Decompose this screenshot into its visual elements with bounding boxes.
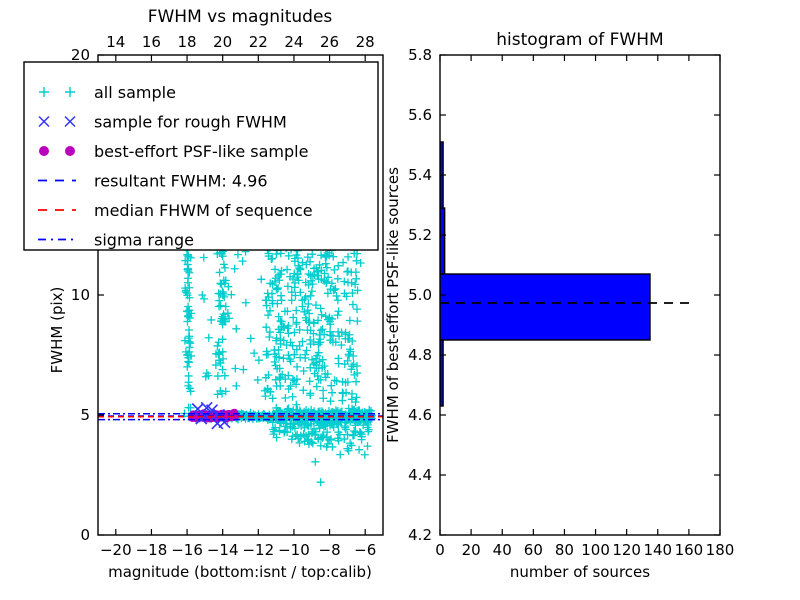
scatter-plus-marker	[221, 264, 229, 272]
scatter-plus-marker	[239, 366, 247, 374]
left-scatter-data	[98, 211, 383, 486]
scatter-plus-marker	[327, 397, 335, 405]
left-xtick-label-top: 18	[178, 33, 197, 51]
left-xtick-label-bottom: −16	[171, 541, 203, 559]
left-xtick-label-bottom: −14	[207, 541, 239, 559]
legend: all samplesample for rough FWHMbest-effo…	[24, 62, 378, 250]
scatter-plus-marker	[273, 285, 281, 293]
right-xtick-label: 180	[706, 541, 735, 559]
scatter-plus-marker	[350, 427, 358, 435]
scatter-plus-marker	[216, 268, 224, 276]
scatter-plus-marker	[183, 363, 191, 371]
scatter-plus-marker	[353, 305, 361, 313]
scatter-plus-marker	[257, 275, 265, 283]
scatter-plus-marker	[283, 266, 291, 274]
histogram-bars	[440, 142, 690, 406]
left-xtick-label-top: 20	[213, 33, 232, 51]
scatter-plus-marker	[364, 442, 372, 450]
scatter-plus-marker	[311, 458, 319, 466]
scatter-plus-marker	[254, 376, 262, 384]
scatter-plus-marker	[232, 382, 240, 390]
scatter-plus-marker	[292, 306, 300, 314]
scatter-plus-marker	[232, 325, 240, 333]
left-xtick-label-bottom: −12	[242, 541, 274, 559]
legend-item-label: best-effort PSF-like sample	[94, 142, 308, 161]
scatter-plus-marker	[247, 334, 255, 342]
scatter-plus-marker	[272, 285, 280, 293]
scatter-plus-marker	[352, 378, 360, 386]
scatter-plus-marker	[331, 376, 339, 384]
scatter-plus-marker	[239, 257, 247, 265]
legend-item-label: sigma range	[94, 231, 194, 250]
right-ytick-label: 5.4	[408, 166, 432, 184]
scatter-plus-marker	[299, 386, 307, 394]
scatter-plus-marker	[295, 439, 303, 447]
scatter-plus-marker	[185, 378, 193, 386]
left-ytick-label: 10	[71, 286, 90, 304]
scatter-plus-marker	[306, 389, 314, 397]
scatter-plus-marker	[266, 328, 274, 336]
scatter-plus-marker	[234, 251, 242, 259]
legend-item-label: resultant FWHM: 4.96	[94, 172, 268, 191]
scatter-plus-marker	[242, 299, 250, 307]
right-panel: 020406080100120140160180 4.24.44.64.85.0…	[384, 30, 734, 581]
right-xtick-label: 40	[493, 541, 512, 559]
scatter-plus-marker	[319, 394, 327, 402]
scatter-plus-marker	[330, 266, 338, 274]
right-plot-title: histogram of FWHM	[496, 30, 663, 50]
scatter-plus-marker	[349, 301, 357, 309]
histogram-bar	[440, 274, 650, 340]
scatter-plus-marker	[353, 317, 361, 325]
scatter-plus-marker	[275, 276, 283, 284]
scatter-plus-marker	[205, 334, 213, 342]
left-xtick-label-top: 22	[249, 33, 268, 51]
legend-item-label: all sample	[94, 83, 176, 102]
left-xtick-label-bottom: −8	[319, 541, 341, 559]
scatter-plus-marker	[334, 328, 342, 336]
scatter-plus-marker	[318, 311, 326, 319]
right-xtick-label: 80	[555, 541, 574, 559]
scatter-plus-marker	[313, 383, 321, 391]
scatter-plus-marker	[272, 250, 280, 258]
scatter-plus-marker	[207, 316, 215, 324]
right-xtick-label: 140	[643, 541, 672, 559]
scatter-plus-marker	[303, 346, 311, 354]
right-xtick-label: 120	[612, 541, 641, 559]
scatter-plus-marker	[231, 365, 239, 373]
scatter-plus-marker	[264, 289, 272, 297]
legend-item-label: median FHWM of sequence	[94, 201, 313, 220]
scatter-plus-marker	[335, 307, 343, 315]
left-xtick-label-top: 16	[142, 33, 161, 51]
left-ytick-label: 5	[80, 406, 90, 424]
scatter-plus-marker	[231, 265, 239, 273]
scatter-plus-marker	[200, 295, 208, 303]
left-xtick-label-top: 26	[320, 33, 339, 51]
scatter-plus-marker	[215, 297, 223, 305]
legend-item-label: sample for rough FWHM	[94, 113, 287, 132]
scatter-plus-marker	[227, 291, 235, 299]
scatter-plus-marker	[185, 358, 193, 366]
scatter-plus-marker	[264, 311, 272, 319]
histogram-bar	[440, 208, 445, 274]
scatter-plus-marker	[328, 389, 336, 397]
left-x-axis-top: 1416182022242628	[106, 33, 374, 61]
left-xtick-label-top: 28	[356, 33, 375, 51]
left-xaxis-label: magnitude (bottom:isnt / top:calib)	[108, 563, 372, 581]
scatter-plus-marker	[306, 377, 314, 385]
scatter-plus-marker	[214, 372, 222, 380]
left-xtick-label-bottom: −18	[136, 541, 168, 559]
scatter-plus-marker	[344, 279, 352, 287]
scatter-plus-marker	[250, 349, 258, 357]
scatter-plus-marker	[288, 296, 296, 304]
right-ytick-label: 4.2	[408, 526, 432, 544]
circle-marker	[65, 146, 75, 156]
left-yaxis-label: FWHM (pix)	[48, 287, 66, 374]
right-ytick-label: 5.6	[408, 106, 432, 124]
circle-marker	[39, 146, 49, 156]
scatter-plus-marker	[334, 354, 342, 362]
scatter-plus-marker	[198, 291, 206, 299]
right-ytick-label: 4.8	[408, 346, 432, 364]
scatter-plus-marker	[336, 451, 344, 459]
right-xtick-label: 160	[675, 541, 704, 559]
right-xtick-label: 20	[462, 541, 481, 559]
right-ytick-label: 5.0	[408, 286, 432, 304]
scatter-plus-marker	[274, 346, 282, 354]
scatter-plus-marker	[293, 363, 301, 371]
right-xtick-label: 60	[524, 541, 543, 559]
scatter-plus-marker	[338, 397, 346, 405]
scatter-plus-marker	[220, 260, 228, 268]
scatter-plus-marker	[184, 303, 192, 311]
scatter-plus-marker	[289, 393, 297, 401]
right-ytick-label: 5.2	[408, 226, 432, 244]
scatter-plus-marker	[185, 326, 193, 334]
left-x-axis-bottom: −20−18−16−14−12−10−8−6	[100, 529, 376, 559]
scatter-plus-marker	[329, 253, 337, 261]
scatter-plus-marker	[319, 387, 327, 395]
scatter-plus-marker	[200, 254, 208, 262]
scatter-plus-marker	[327, 382, 335, 390]
scatter-plus-marker	[317, 478, 325, 486]
scatter-plus-marker	[284, 282, 292, 290]
right-ytick-label: 4.6	[408, 406, 432, 424]
left-plot-title: FWHM vs magnitudes	[148, 7, 333, 27]
scatter-plus-marker	[255, 356, 263, 364]
scatter-plus-marker	[262, 323, 270, 331]
right-xtick-label: 0	[435, 541, 445, 559]
figure-canvas: −20−18−16−14−12−10−8−6 1416182022242628 …	[0, 0, 800, 600]
right-yaxis-label: FWHM of best-effort PSF-like sources	[384, 167, 402, 443]
scatter-plus-marker	[342, 426, 350, 434]
scatter-plus-marker	[361, 451, 369, 459]
scatter-plus-marker	[185, 338, 193, 346]
right-xtick-label: 100	[581, 541, 610, 559]
left-ytick-label: 0	[80, 526, 90, 544]
left-xtick-label-top: 14	[106, 33, 125, 51]
left-xtick-label-bottom: −6	[354, 541, 376, 559]
scatter-plus-marker	[334, 296, 342, 304]
scatter-plus-marker	[217, 302, 225, 310]
scatter-plus-marker	[331, 285, 339, 293]
right-ytick-label: 5.8	[408, 46, 432, 64]
left-xtick-label-bottom: −10	[278, 541, 310, 559]
scatter-plus-marker	[346, 316, 354, 324]
right-xaxis-label: number of sources	[510, 563, 650, 581]
matplotlib-figure: −20−18−16−14−12−10−8−6 1416182022242628 …	[0, 0, 800, 600]
scatter-plus-marker	[284, 329, 292, 337]
scatter-plus-marker	[353, 393, 361, 401]
all-sample-points	[180, 211, 376, 486]
left-xtick-label-bottom: −20	[100, 541, 132, 559]
scatter-plus-marker	[327, 331, 335, 339]
scatter-plus-marker	[281, 394, 289, 402]
left-xtick-label-top: 24	[284, 33, 303, 51]
scatter-plus-marker	[273, 382, 281, 390]
scatter-plus-marker	[334, 311, 342, 319]
scatter-plus-marker	[333, 377, 341, 385]
scatter-plus-marker	[213, 342, 221, 350]
scatter-plus-marker	[355, 446, 363, 454]
right-ytick-label: 4.4	[408, 466, 432, 484]
scatter-plus-marker	[185, 404, 193, 412]
